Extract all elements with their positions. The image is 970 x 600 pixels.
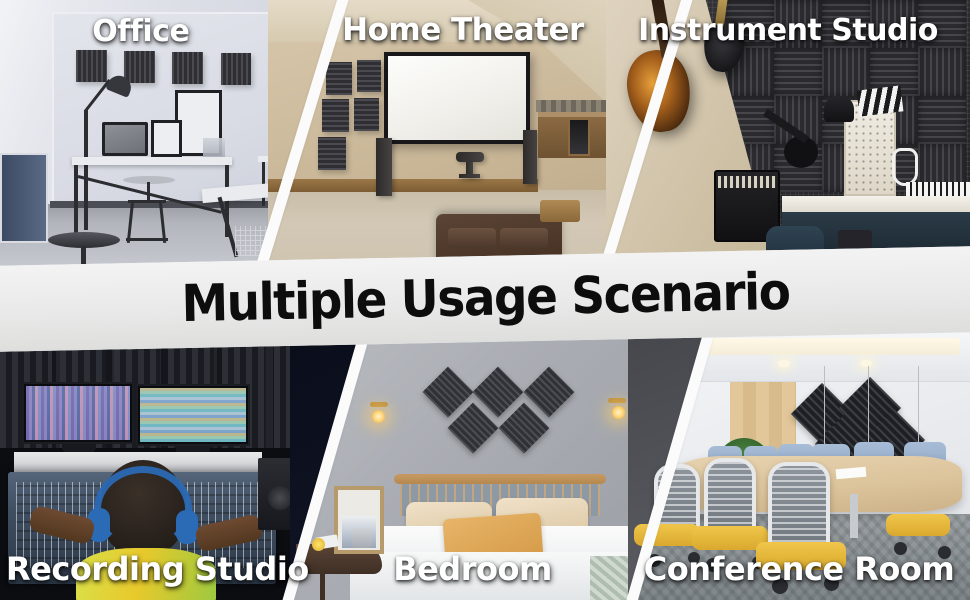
acoustic-panel [326,62,352,95]
table-leg [850,494,858,538]
center-speaker [456,152,484,162]
recessed-downlight [778,360,790,367]
acoustic-panel [774,48,822,96]
scenario-panel-bedroom: Bedroom [290,330,655,600]
office-cabinet [0,153,48,243]
scenario-panel-recording-studio: Recording Studio [0,330,330,600]
wall-sconce-arm-left [370,402,388,407]
acoustic-panel [172,52,203,84]
decor-object [352,528,372,548]
acoustic-panel [354,98,379,131]
office-laptop [102,122,148,156]
lamp-post [84,110,88,230]
acoustic-panel [918,96,966,144]
bed-headboard-top [394,474,606,484]
scenario-panel-instrument-studio: Instrument Studio [606,0,970,270]
acoustic-panel [918,48,966,96]
acoustic-panel [357,60,381,92]
usage-scenario-collage: Office [0,0,970,600]
acoustic-panel [76,50,107,82]
acoustic-panel [822,48,870,96]
acoustic-panel [124,51,155,83]
projector-screen [384,52,530,144]
acoustic-panel [318,137,346,170]
subwoofer-driver [268,486,292,510]
panel-caption-office: Office [92,14,189,49]
studio-headphones [824,96,854,122]
wall-sconce-bulb-right [612,406,625,419]
wall-art-frame [151,120,182,157]
wall-outlet [838,230,872,248]
panel-caption-recording-studio: Recording Studio [6,550,309,588]
panel-caption-bedroom: Bedroom [393,550,552,588]
couch-cushion [500,228,548,248]
panel-caption-home-theater: Home Theater [342,12,584,48]
wall-sconce-arm-right [608,398,626,403]
couch-cushion [448,228,496,248]
mesh-chair-seat [886,514,950,536]
midi-keyboard [906,182,970,196]
clapperboard [857,85,904,116]
wall-sconce-bulb-left [372,410,385,423]
scenario-panel-conference-room: Conference Room [628,330,970,600]
stool-post [147,182,150,202]
stool-foot [126,238,168,241]
acoustic-panel [221,53,251,85]
nightstand-leg [320,574,325,600]
amp-control-panel [718,176,776,188]
headphone-earcup [176,510,198,544]
acoustic-panel [322,99,349,132]
daw-monitor-left [22,382,134,444]
banner-title: Multiple Usage Scenario [180,262,789,333]
floor-speaker-right [523,130,537,184]
lemon [312,538,325,551]
daw-mixer-view [26,386,130,440]
side-tray [540,200,580,222]
studio-desk [782,196,970,212]
daw-monitor-right [136,384,250,446]
home-theater-baseboard [268,179,538,192]
recessed-downlight [860,360,872,367]
neon-pineapple-sign [892,148,918,186]
panel-caption-conference-room: Conference Room [644,550,954,588]
center-speaker-base [459,174,480,178]
floor-speaker-left [376,138,392,196]
daw-timeline-view [140,388,246,442]
office-desk [72,157,232,165]
beverage-fridge [568,118,590,156]
panel-caption-instrument-studio: Instrument Studio [638,13,938,48]
desk-organizer [203,138,225,157]
